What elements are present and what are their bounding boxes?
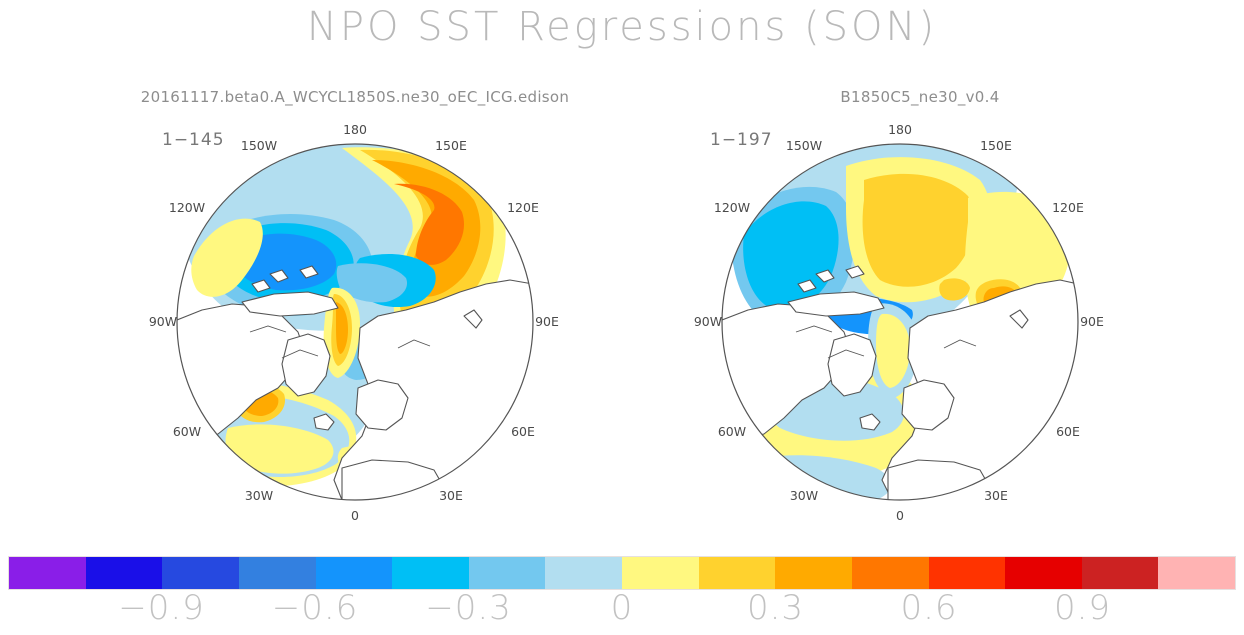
colorbar-cell-6 bbox=[469, 557, 546, 589]
svg-text:0: 0 bbox=[351, 508, 359, 523]
colorbar-cell-10 bbox=[775, 557, 852, 589]
svg-text:60E: 60E bbox=[511, 424, 535, 439]
svg-text:90E: 90E bbox=[1080, 314, 1104, 329]
page-title: NPO SST Regressions (SON) bbox=[0, 4, 1244, 50]
svg-text:150E: 150E bbox=[980, 138, 1012, 153]
colorbar-tick-5: 0.6 bbox=[900, 588, 957, 628]
svg-text:60W: 60W bbox=[173, 424, 201, 439]
panel-right: B1850C5_ne30_v0.4 1−197 bbox=[620, 88, 1220, 538]
colorbar-tick-labels: −0.9−0.6−0.300.30.60.9 bbox=[0, 588, 1244, 632]
svg-text:30W: 30W bbox=[790, 488, 818, 503]
colorbar-cell-2 bbox=[162, 557, 239, 589]
colorbar-cell-12 bbox=[929, 557, 1006, 589]
colorbar-cell-14 bbox=[1082, 557, 1159, 589]
svg-text:150W: 150W bbox=[786, 138, 822, 153]
colorbar-cell-0 bbox=[9, 557, 86, 589]
svg-text:180: 180 bbox=[343, 122, 367, 137]
colorbar-cell-11 bbox=[852, 557, 929, 589]
colorbar-cell-1 bbox=[86, 557, 163, 589]
colorbar-cell-15 bbox=[1158, 557, 1235, 589]
colorbar-cell-3 bbox=[239, 557, 316, 589]
colorbar-cell-7 bbox=[545, 557, 622, 589]
svg-text:30E: 30E bbox=[984, 488, 1008, 503]
svg-text:180: 180 bbox=[888, 122, 912, 137]
svg-text:90W: 90W bbox=[694, 314, 722, 329]
panel-left: 20161117.beta0.A_WCYCL1850S.ne30_oEC_ICG… bbox=[42, 88, 668, 538]
colorbar-tick-0: −0.9 bbox=[118, 588, 205, 628]
colorbar-tick-6: 0.9 bbox=[1054, 588, 1111, 628]
svg-text:120W: 120W bbox=[169, 200, 205, 215]
svg-text:90W: 90W bbox=[149, 314, 177, 329]
colorbar-cell-9 bbox=[699, 557, 776, 589]
colorbar-tick-1: −0.6 bbox=[272, 588, 359, 628]
svg-text:0: 0 bbox=[896, 508, 904, 523]
map-right[interactable]: 180 150E 120E 90E 60E 30E 0 30W 60W 90W … bbox=[620, 88, 1220, 538]
svg-text:30E: 30E bbox=[439, 488, 463, 503]
colorbar-tick-2: −0.3 bbox=[425, 588, 512, 628]
map-left[interactable]: 180 150E 120E 90E 60E 30E 0 30W 60W 90W … bbox=[42, 88, 668, 538]
svg-text:120E: 120E bbox=[507, 200, 539, 215]
svg-text:60W: 60W bbox=[718, 424, 746, 439]
colorbar-tick-3: 0 bbox=[611, 588, 634, 628]
colorbar-tick-4: 0.3 bbox=[747, 588, 804, 628]
colorbar-cell-4 bbox=[316, 557, 393, 589]
svg-text:150W: 150W bbox=[241, 138, 277, 153]
colorbar-cell-13 bbox=[1005, 557, 1082, 589]
svg-text:120E: 120E bbox=[1052, 200, 1084, 215]
svg-text:120W: 120W bbox=[714, 200, 750, 215]
svg-text:150E: 150E bbox=[435, 138, 467, 153]
colorbar-cell-8 bbox=[622, 557, 699, 589]
svg-text:60E: 60E bbox=[1056, 424, 1080, 439]
colorbar[interactable] bbox=[8, 556, 1236, 590]
colorbar-cell-5 bbox=[392, 557, 469, 589]
svg-text:90E: 90E bbox=[535, 314, 559, 329]
svg-text:30W: 30W bbox=[245, 488, 273, 503]
